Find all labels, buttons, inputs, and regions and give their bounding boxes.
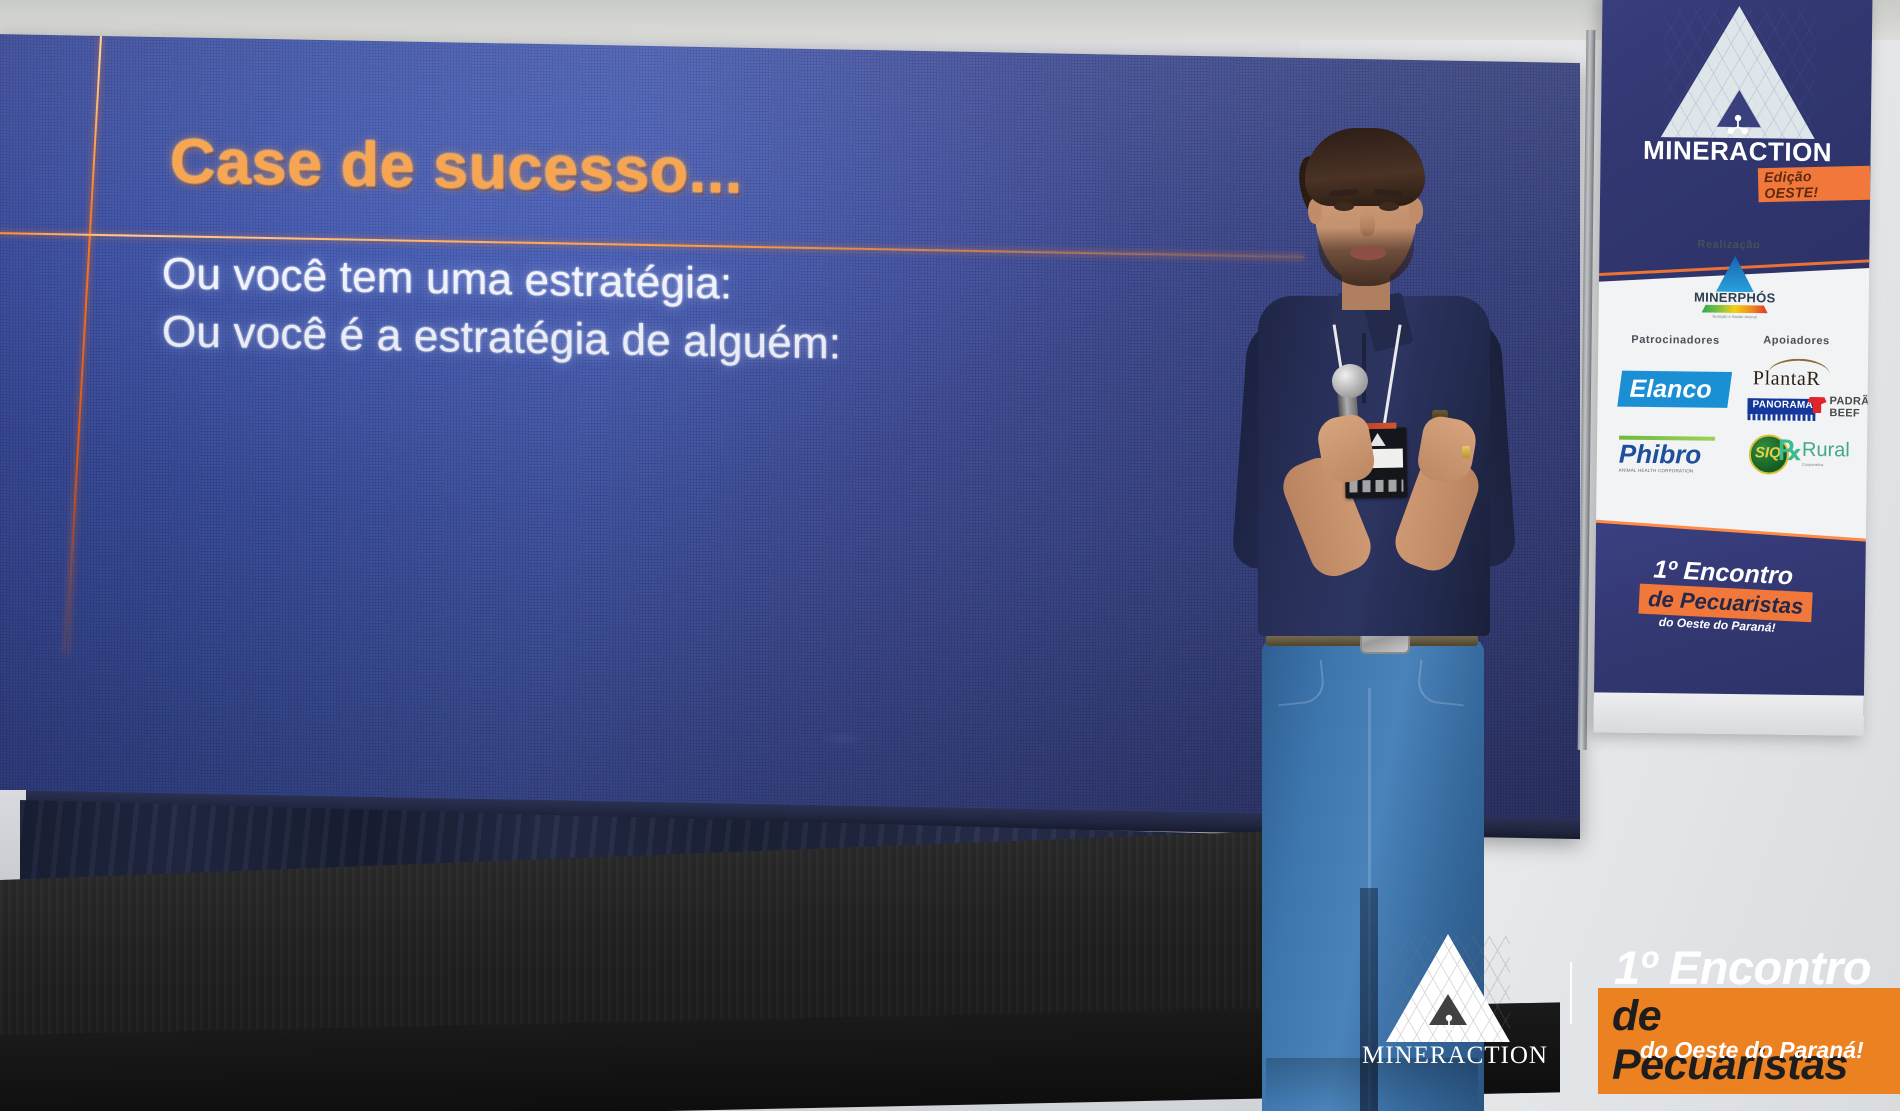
badge-triangle-icon — [1369, 433, 1385, 446]
mouth — [1350, 246, 1386, 260]
rollup-banner: MINERACTION Edição OESTE! Realização MIN… — [1593, 0, 1872, 736]
panorama-stripe — [1747, 414, 1815, 421]
phibro-logo: Phibro ANIMAL HEALTH CORPORATION — [1619, 436, 1731, 474]
badge-sponsor-strip — [1349, 480, 1403, 493]
watermark-encontro: 1º Encontro — [1614, 940, 1871, 995]
finger-ring — [1462, 446, 1470, 458]
banner-edition-badge: Edição OESTE! — [1758, 166, 1871, 203]
label-realizacao: Realização — [1697, 239, 1760, 252]
eye-right — [1379, 202, 1399, 211]
padrao-name2: BEEF — [1829, 407, 1872, 420]
rural-sub: Cooperativa — [1802, 462, 1850, 468]
phibro-sub: ANIMAL HEALTH CORPORATION — [1619, 468, 1731, 474]
watermark-brand: MINERACTION — [1362, 1042, 1534, 1070]
photo-watermark: MINERACTION 1º Encontro de Pecuaristas d… — [1352, 930, 1900, 1111]
rural-mark-icon: ℞ — [1778, 439, 1800, 465]
minerphos-gradient-bar — [1702, 305, 1768, 314]
elanco-logo: Elanco — [1617, 371, 1732, 408]
elanco-name: Elanco — [1629, 375, 1711, 405]
eye-left — [1334, 202, 1354, 211]
padrao-beef-logo: PADRÃO BEEF — [1829, 395, 1872, 420]
minerphos-logo: MINERPHÓS Nutrição e Saúde Animal — [1692, 255, 1779, 318]
banner-foot — [1593, 692, 1872, 735]
phibro-name: Phibro — [1619, 440, 1731, 469]
padrao-name: PADRÃO — [1829, 395, 1872, 408]
atom-icon — [1727, 114, 1749, 136]
panorama-name: PANORAMA — [1752, 399, 1813, 411]
watermark-divider — [1570, 962, 1572, 1024]
banner-brand-name: MINERACTION — [1637, 135, 1837, 168]
watermark-sub: do Oeste do Paraná! — [1640, 1037, 1864, 1064]
minerphos-name: MINERPHÓS — [1691, 289, 1779, 305]
atom-icon — [1438, 1014, 1460, 1036]
label-apoiadores: Apoiadores — [1763, 334, 1830, 347]
photo-scene: Case de sucesso... Ou você tem uma estra… — [0, 0, 1900, 1111]
speaker-hair — [1305, 128, 1425, 206]
label-patrocinadores: Patrocinadores — [1631, 334, 1720, 347]
minerphos-tagline: Nutrição e Saúde Animal — [1700, 314, 1770, 320]
plantar-name: PlantaR — [1753, 367, 1821, 391]
panorama-logo: PANORAMA — [1747, 398, 1815, 415]
rural-name: Rural — [1802, 439, 1850, 463]
minerphos-triangle-icon — [1716, 256, 1754, 292]
rural-logo: ℞ Rural Cooperativa — [1802, 439, 1850, 468]
